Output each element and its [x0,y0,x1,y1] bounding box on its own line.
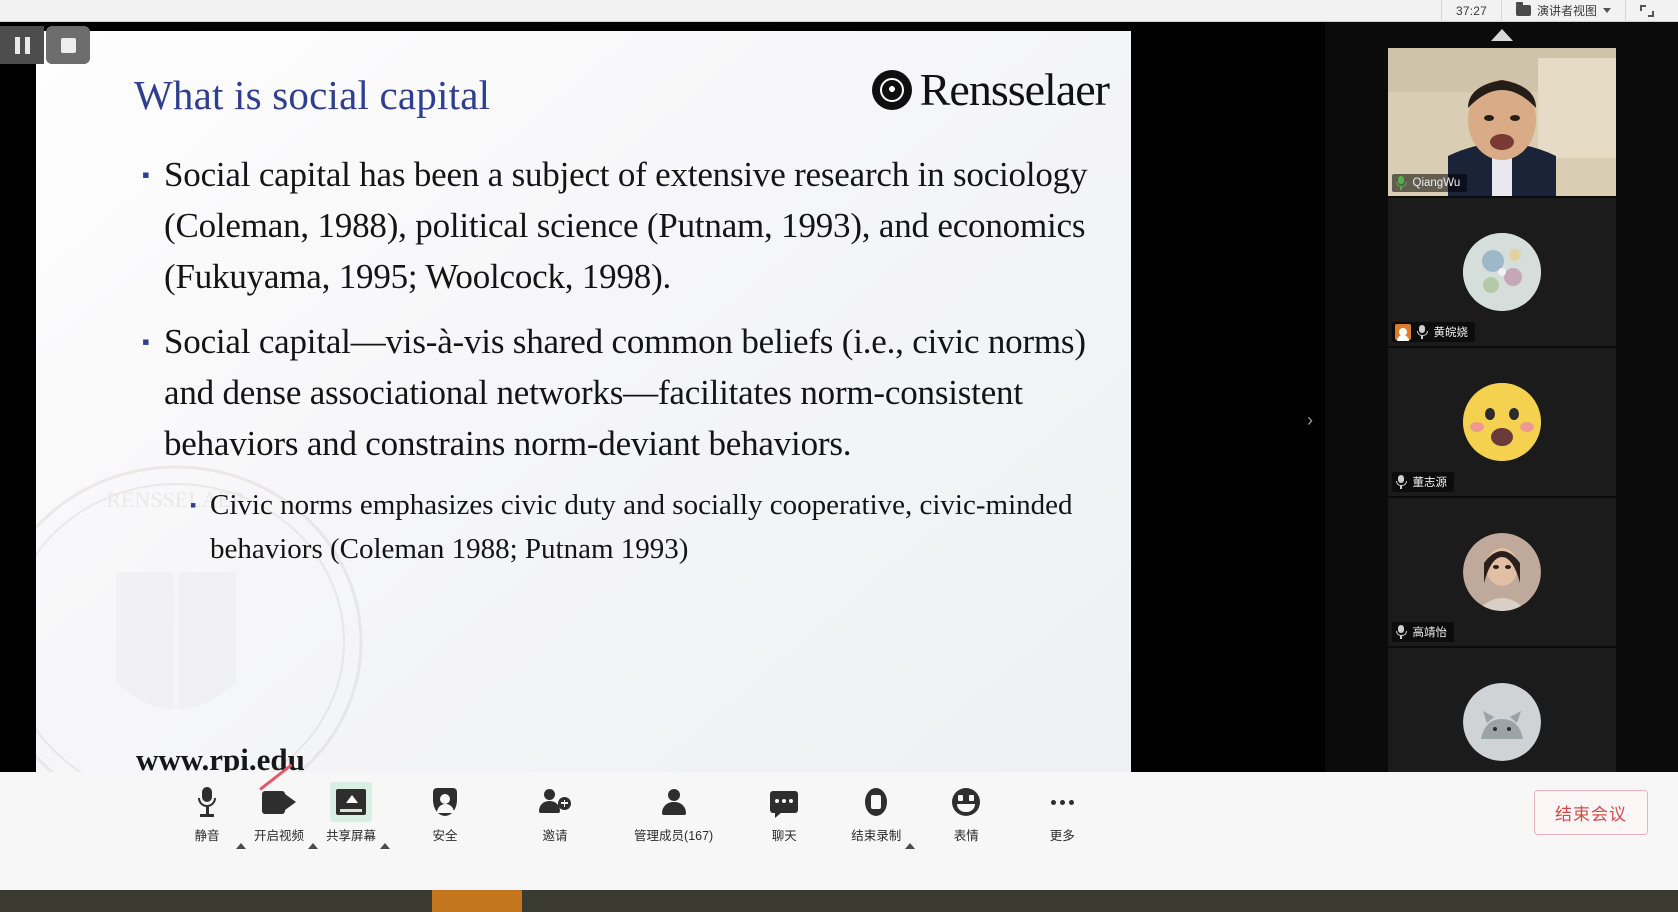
avatar [1463,533,1541,611]
slide-bullet: ▪ Social capital has been a subject of e… [136,149,1096,302]
avatar [1463,383,1541,461]
participant-name-badge: 董志源 [1392,472,1455,492]
toolbar-chat-button[interactable]: 聊天 [753,772,815,844]
gallery-view-icon [1516,5,1531,16]
toolbar-more-button[interactable]: 更多 [1031,772,1093,844]
share-options-caret[interactable] [380,804,390,844]
toolbar-security-button[interactable]: 安全 [414,772,476,844]
pause-recording-button[interactable] [0,26,44,64]
slide-bullet: ▪ Social capital—vis-à-vis shared common… [136,316,1096,469]
participant-name: 黄皖娆 [1434,324,1469,340]
toolbar-participants-label: 管理成员(167) [634,825,713,844]
bullet-marker-icon: ▪ [136,149,164,302]
avatar [1463,683,1541,761]
slide-sub-bullet: ▪ Civic norms emphasizes civic duty and … [184,483,1096,571]
shield-icon [433,782,457,822]
microphone-muted-icon [1395,475,1408,489]
bullet-marker-icon: ▪ [136,316,164,469]
participant-avatar [1388,648,1616,772]
fullscreen-icon [1640,5,1654,17]
toolbar-mute-button[interactable]: 静音 [176,772,238,844]
bottom-strip-highlight [432,890,522,912]
toolbar-invite-label: 邀请 [543,825,568,844]
avatar-image [1463,233,1541,311]
participant-tile[interactable]: 黄皖娆 [1388,198,1616,346]
bottom-strip-right [522,890,1678,912]
participants-icon [661,782,687,822]
participant-name: 高靖怡 [1413,624,1448,640]
toolbar-share-screen-label: 共享屏幕 [326,825,376,844]
microphone-icon [197,782,217,822]
participant-tile[interactable]: 会计研-S20200989-黄婷 [1388,648,1616,772]
bullet-text: Social capital has been a subject of ext… [164,149,1096,302]
microphone-muted-icon [1416,325,1429,339]
chevron-up-icon [308,826,318,849]
toolbar-reactions-label: 表情 [954,825,979,844]
participant-name-badge: 高靖怡 [1392,622,1455,642]
reactions-icon [952,782,980,822]
participant-name-badge: 黄皖娆 [1392,322,1476,342]
bottom-strip-left [0,890,432,912]
recording-options-caret[interactable] [905,804,915,844]
video-options-caret[interactable] [308,804,318,844]
invite-icon [539,782,571,822]
participant-tile[interactable]: 董志源 [1388,348,1616,496]
toolbar-chat-label: 聊天 [772,825,797,844]
shared-screen-area: RENSSELAER POLYTECHNIC What is social ca… [0,22,1325,772]
pause-icon [15,37,30,54]
participant-tile[interactable]: QiangWu [1388,48,1616,196]
share-screen-icon [330,782,372,822]
microphone-icon [1395,176,1408,190]
stop-recording-button[interactable] [46,26,90,64]
avatar-image [1463,383,1541,461]
view-mode-label: 演讲者视图 [1537,2,1597,19]
triangle-up-icon [1491,29,1513,41]
toolbar-more-label: 更多 [1050,825,1075,844]
meeting-toolbar: 静音 开启视频 共享屏幕 安全 [0,772,1678,890]
avatar-image [1463,533,1541,611]
toolbar-participants-button[interactable]: 管理成员(167) [628,772,719,844]
presentation-slide: RENSSELAER POLYTECHNIC What is social ca… [36,31,1131,772]
end-meeting-button[interactable]: 结束会议 [1534,790,1648,835]
view-mode-switch[interactable]: 演讲者视图 [1501,0,1625,22]
fullscreen-button[interactable] [1625,0,1668,22]
participant-name-badge: QiangWu [1392,174,1468,192]
participant-video-strip: QiangWu [1325,22,1678,772]
rensselaer-seal-icon [872,70,912,110]
avatar-image [1463,683,1541,761]
bottom-strip [0,890,1678,912]
more-icon [1048,782,1076,822]
meeting-timer-value: 37:27 [1456,4,1487,18]
meeting-stage: RENSSELAER POLYTECHNIC What is social ca… [0,22,1678,772]
chat-icon [770,782,798,822]
slide-footer-url: www.rpi.edu [136,742,305,772]
top-bar: 37:27 演讲者视图 [0,0,1678,22]
gallery-scroll-up[interactable] [1325,22,1678,48]
slide-title: What is social capital [134,71,490,119]
participant-name: QiangWu [1413,177,1461,189]
toolbar-stop-recording-label: 结束录制 [851,825,901,844]
toolbar-video-label: 开启视频 [254,825,304,844]
sub-bullet-text: Civic norms emphasizes civic duty and so… [210,483,1096,571]
participant-name: 董志源 [1413,474,1448,490]
end-meeting-wrap: 结束会议 [1534,772,1678,835]
chevron-up-icon [380,826,390,849]
host-badge-icon [1395,324,1411,340]
toolbar-mute-label: 静音 [194,825,219,844]
toolbar-reactions-button[interactable]: 表情 [935,772,997,844]
slide-bullet-list: ▪ Social capital has been a subject of e… [136,149,1096,571]
chevron-up-icon [236,826,246,849]
toolbar-invite-button[interactable]: 邀请 [524,772,586,844]
recording-controls [0,26,90,64]
rensselaer-logo: Rensselaer [872,63,1109,116]
toolbar-security-label: 安全 [433,825,458,844]
bullet-text: Social capital—vis-à-vis shared common b… [164,316,1096,469]
chevron-down-icon [1603,8,1611,13]
participant-tile[interactable]: 高靖怡 [1388,498,1616,646]
chevron-up-icon [905,826,915,849]
microphone-muted-icon [1395,625,1408,639]
toolbar-share-screen-button[interactable]: 共享屏幕 [320,772,382,844]
toolbar-items: 静音 开启视频 共享屏幕 安全 [0,772,1093,844]
toolbar-stop-recording-button[interactable]: 结束录制 [845,772,907,844]
avatar [1463,233,1541,311]
collapse-gallery-button[interactable]: › [1301,402,1319,438]
zoom-meeting-window: 37:27 演讲者视图 [0,0,1678,912]
stop-icon [61,38,76,53]
camera-off-icon [262,782,296,822]
stop-recording-icon [865,782,887,822]
meeting-timer: 37:27 [1441,0,1501,22]
rensselaer-wordmark: Rensselaer [920,63,1109,116]
toolbar-video-button[interactable]: 开启视频 [248,772,310,844]
audio-options-caret[interactable] [236,804,246,844]
bullet-marker-icon: ▪ [184,483,210,571]
